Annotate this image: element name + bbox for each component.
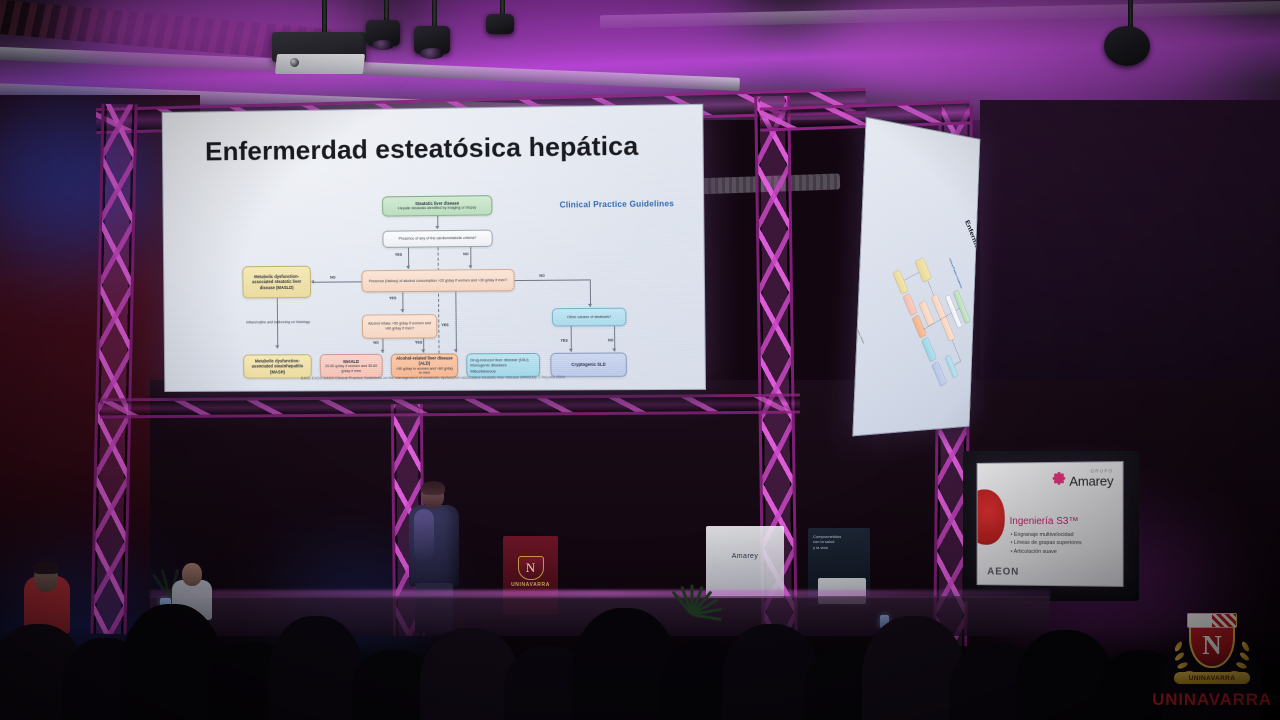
side-node-cryptogenic: [932, 361, 947, 386]
moving-head-light: [486, 14, 514, 34]
flow-arrow-icon: [435, 226, 439, 229]
crest-ribbon-text: UNINAVARRA: [1189, 675, 1236, 682]
flow-node-ald-sub: >50 g/day in women and >60 g/day in men: [395, 366, 454, 376]
side-edge: [904, 272, 919, 280]
side-node-masld: [915, 257, 932, 282]
flow-node-alcohol-intake-sub: Alcohol intake >50 g/day if women and >6…: [366, 321, 433, 331]
flow-edge-label-yes: YES: [389, 296, 396, 300]
uninavarra-watermark: N UNINAVARRA UNINAVARRA: [1158, 606, 1266, 710]
flow-node-miscellaneous: Miscellaneous: [470, 368, 495, 373]
flow-node-alcohol: Presence (history) of alcohol consumptio…: [361, 269, 514, 293]
flow-node-cardiometabolic-sub: Presence of any of the cardiometabolic c…: [399, 236, 477, 242]
flow-edge-label-no: NO: [330, 276, 335, 280]
flow-edge-label-yes: YES: [441, 323, 448, 327]
flow-edge-label-no: NO: [539, 274, 545, 278]
flow-arrow-icon: [400, 309, 404, 312]
flow-edge-label-yes: YES: [560, 339, 567, 343]
flow-node-alcohol-sub: Presence (history) of alcohol consumptio…: [369, 278, 508, 284]
flow-arrow-icon: [588, 304, 592, 307]
flow-node-other-causes: Other causes of steatosis?: [552, 308, 627, 327]
side-edge: [928, 281, 934, 295]
side-screen-content: Enfermerdad esteatósica hepática Clinica…: [852, 206, 980, 359]
side-slide-citation: EASL-EASD-EASO Clinical Practice Guideli…: [852, 309, 864, 344]
moving-head-lens-icon: [420, 48, 444, 59]
flow-node-metald-sub: 20-50 g/day if women and 30-60 g/day if …: [324, 364, 379, 374]
flow-node-cryptogenic-title: Cryptogenic SLD: [571, 362, 605, 368]
flow-arrow-icon: [454, 349, 458, 352]
amarey-brand-lockup: GRUPO Amarey: [1051, 469, 1113, 487]
side-node-metald: [903, 293, 918, 316]
flow-edge-dashed: [438, 247, 440, 358]
audience-member-hair: [33, 561, 59, 574]
flow-node-masld: Metabolic dysfunction-associated steatot…: [242, 266, 311, 299]
flow-edge-label-histology: Inflammation and ballooning on histology: [243, 320, 314, 324]
side-node-specific: [921, 337, 936, 362]
flow-node-ald-title: Alcohol-related liver disease (ALD): [395, 355, 454, 366]
amarey-wordmark: Amarey: [1069, 474, 1113, 488]
side-node-other-causes: [945, 355, 958, 379]
crest-ribbon: UNINAVARRA: [1174, 672, 1250, 684]
crest-top-banner: [1187, 613, 1237, 628]
moving-head-lens-icon: [372, 40, 394, 50]
audience-head: [268, 616, 364, 720]
uninavarra-wordmark: UNINAVARRA: [1152, 690, 1272, 710]
flow-node-other-causes-sub: Other causes of steatosis?: [567, 314, 611, 319]
flow-node-ald: Alcohol-related liver disease (ALD) >50 …: [391, 353, 459, 378]
crest-letter: N: [1202, 632, 1222, 659]
flow-edge-label-no: NO: [608, 338, 614, 342]
flow-node-sld-sub: Hepatic steatosis identified by imaging …: [398, 206, 476, 212]
flow-edge: [515, 279, 590, 281]
flow-arrow-icon: [421, 350, 425, 353]
flow-edge: [590, 279, 591, 306]
amarey-flower-icon: [1051, 471, 1066, 486]
flow-node-cryptogenic: Cryptogenic SLD: [550, 352, 627, 377]
side-node-mash: [893, 270, 909, 295]
flow-node-specific-causes: Drug-induced liver disease (DILI) Monoge…: [466, 353, 540, 378]
flow-arrow-icon: [569, 349, 573, 352]
flow-edge: [455, 292, 457, 353]
flow-arrow-icon: [612, 348, 616, 351]
flow-arrow-icon: [275, 345, 279, 348]
flow-edge-label-yes: YES: [395, 253, 402, 257]
side-slide-flowchart: [892, 245, 981, 391]
uninavarra-crest: N UNINAVARRA: [1169, 612, 1255, 686]
slide-citation: EASL-EASD-EASO Clinical Practice Guideli…: [301, 375, 565, 380]
flow-edge-label-no: NO: [373, 341, 379, 345]
flow-node-metald: MetALD 20-50 g/day if women and 30-60 g/…: [320, 354, 383, 378]
flow-node-mash: Metabolic dysfunction-associated steatoh…: [243, 354, 312, 378]
slide-title: Enfermerdad esteatósica hepática: [205, 130, 639, 167]
main-projection-screen[interactable]: Enfermerdad esteatósica hepática Clinica…: [162, 104, 706, 392]
slide-flowchart: Steatotic liver disease Hepatic steatosi…: [234, 193, 644, 378]
flow-arrow-icon: [311, 280, 314, 284]
flow-edge: [314, 281, 362, 282]
audience-member-face: [182, 563, 202, 586]
side-edge: [952, 340, 961, 361]
flow-node-mash-title: Metabolic dysfunction-associated steatoh…: [247, 358, 308, 375]
conference-hall-photo: Enfermerdad esteatósica hepática Clinica…: [0, 0, 1280, 720]
flow-arrow-icon: [406, 266, 410, 269]
flow-node-masld-title: Metabolic dysfunction-associated steatot…: [246, 274, 307, 291]
flow-edge-label-no: NO: [463, 252, 469, 256]
flow-edge-label-yes: YES: [415, 340, 422, 344]
flow-node-alcohol-intake: Alcohol intake >50 g/day if women and >6…: [362, 314, 438, 339]
projector-face: [275, 54, 365, 74]
side-edge: [954, 361, 961, 366]
audience: [0, 490, 1280, 720]
flow-arrow-icon: [380, 350, 384, 353]
side-projection-screen[interactable]: Enfermerdad esteatósica hepática Clinica…: [852, 117, 980, 437]
speaker-cabinet: [1104, 26, 1150, 66]
flow-arrow-icon: [468, 265, 472, 268]
projector-lens-icon: [290, 58, 299, 67]
flow-node-cardiometabolic: Presence of any of the cardiometabolic c…: [382, 230, 492, 248]
flow-node-sld: Steatotic liver disease Hepatic steatosi…: [382, 195, 492, 216]
